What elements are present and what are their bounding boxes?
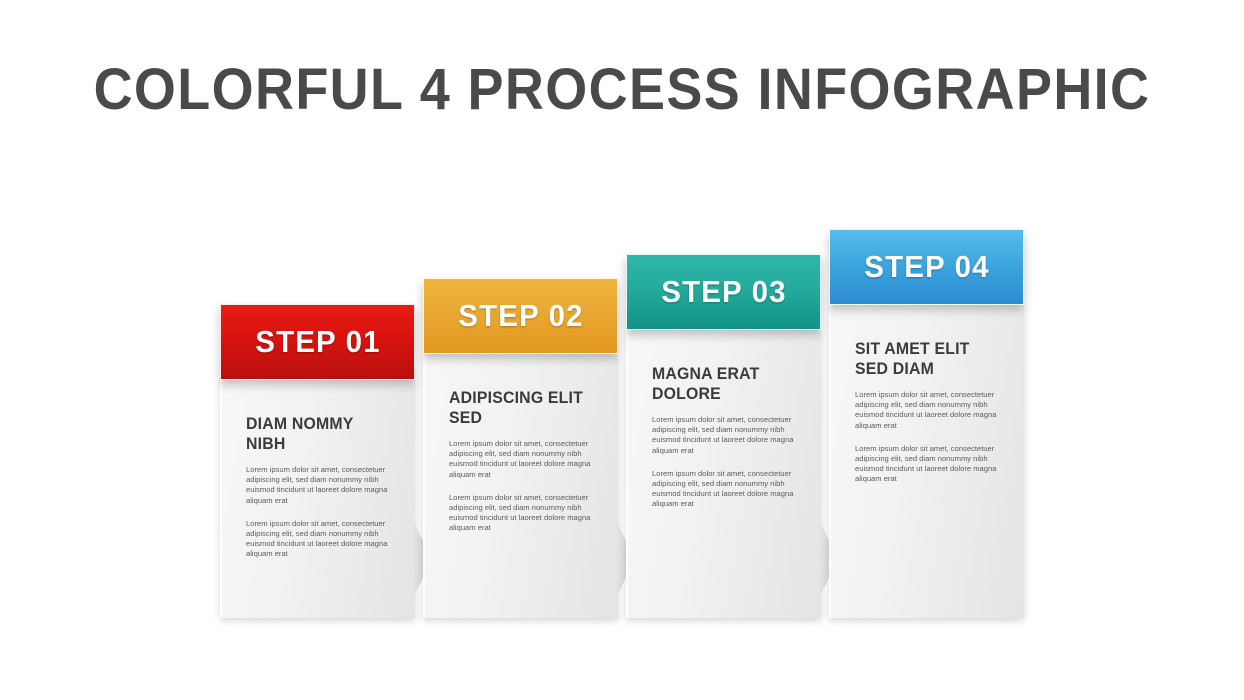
- step-2-heading: ADIPISCING ELIT SED: [449, 388, 592, 428]
- step-4-paragraph-2: Lorem ipsum dolor sit amet, consectetuer…: [855, 444, 1000, 485]
- step-1-paragraph-1: Lorem ipsum dolor sit amet, consectetuer…: [246, 465, 391, 506]
- step-1-heading: DIAM NOMMY NIBH: [246, 414, 389, 454]
- step-2-banner[interactable]: STEP 02: [423, 278, 618, 354]
- step-2-badge-label: STEP 02: [458, 298, 583, 334]
- step-1-banner[interactable]: STEP 01: [220, 304, 415, 380]
- step-3-content: MAGNA ERAT DOLORE Lorem ipsum dolor sit …: [652, 364, 801, 510]
- step-2-content: ADIPISCING ELIT SED Lorem ipsum dolor si…: [449, 388, 598, 534]
- step-4-heading: SIT AMET ELIT SED DIAM: [855, 339, 998, 379]
- step-4-badge-label: STEP 04: [864, 249, 989, 285]
- step-3-paragraph-1: Lorem ipsum dolor sit amet, consectetuer…: [652, 415, 797, 456]
- step-3-banner[interactable]: STEP 03: [626, 254, 821, 330]
- step-3-heading: MAGNA ERAT DOLORE: [652, 364, 795, 404]
- step-2-paragraph-1: Lorem ipsum dolor sit amet, consectetuer…: [449, 439, 594, 480]
- step-4-content: SIT AMET ELIT SED DIAM Lorem ipsum dolor…: [855, 339, 1004, 485]
- step-3-badge-label: STEP 03: [661, 274, 786, 310]
- step-1-paragraph-2: Lorem ipsum dolor sit amet, consectetuer…: [246, 519, 391, 560]
- step-1-badge-label: STEP 01: [255, 324, 380, 360]
- process-steps-stage: STEP 01 DIAM NOMMY NIBH Lorem ipsum dolo…: [0, 0, 1244, 700]
- step-4-paragraph-1: Lorem ipsum dolor sit amet, consectetuer…: [855, 390, 1000, 431]
- step-4-banner[interactable]: STEP 04: [829, 229, 1024, 305]
- step-1-content: DIAM NOMMY NIBH Lorem ipsum dolor sit am…: [246, 414, 395, 560]
- step-2-paragraph-2: Lorem ipsum dolor sit amet, consectetuer…: [449, 493, 594, 534]
- step-3-paragraph-2: Lorem ipsum dolor sit amet, consectetuer…: [652, 469, 797, 510]
